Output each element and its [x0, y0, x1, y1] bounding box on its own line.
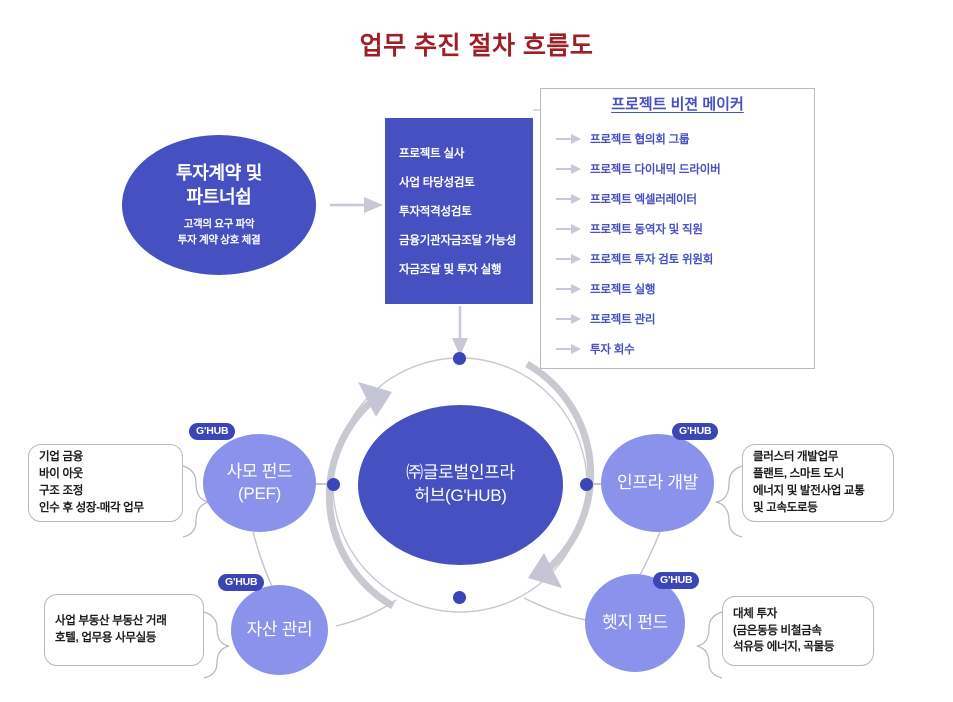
- badge-ghub-infra: G'HUB: [672, 423, 718, 440]
- arrow-contract-to-process-head: [364, 197, 383, 213]
- callout-infra-line-2: 플랜트, 스마트 도시: [753, 466, 883, 483]
- callout-pef-line-2: 바이 아웃: [39, 466, 172, 483]
- ring-dot-bottom: [453, 591, 466, 604]
- vision-item-label: 프로젝트 엑셀러레이터: [590, 191, 697, 207]
- vision-item-label: 프로젝트 관리: [590, 311, 655, 327]
- process-step-4: 금융기관자금조달 가능성: [399, 232, 533, 248]
- process-step-2: 사업 타당성검토: [399, 174, 533, 190]
- hub-label-line1: ㈜글로벌인프라: [406, 462, 515, 485]
- pef-label-line1: 사모 펀드: [227, 461, 293, 483]
- asset-label-line1: 자산 관리: [247, 619, 313, 641]
- process-step-1: 프로젝트 실사: [399, 145, 533, 161]
- vision-item-1[interactable]: 프로젝트 협의회 그룹: [556, 124, 811, 154]
- ring-dot-right: [580, 478, 593, 491]
- badge-ghub-asset: G'HUB: [218, 574, 264, 591]
- vision-item-label: 프로젝트 실행: [590, 281, 655, 297]
- vision-item-5[interactable]: 프로젝트 투자 검토 위원회: [556, 244, 811, 274]
- badge-ghub-pef: G'HUB: [189, 423, 235, 440]
- arrow-right-icon: [556, 284, 582, 294]
- callout-tail-asset: [204, 612, 229, 678]
- ring-dot-top: [453, 352, 466, 365]
- callout-asset-line-2: 호텔, 업무용 사무실등: [55, 630, 193, 647]
- pef-label-line2: (PEF): [238, 483, 281, 505]
- vision-item-6[interactable]: 프로젝트 실행: [556, 274, 811, 304]
- vision-item-label: 프로젝트 투자 검토 위원회: [590, 251, 713, 267]
- vision-item-label: 프로젝트 다이내믹 드라이버: [590, 161, 721, 177]
- hedge-label-line1: 헷지 펀드: [602, 612, 668, 634]
- node-central-hub[interactable]: ㈜글로벌인프라 허브(G'HUB): [358, 405, 563, 565]
- vision-item-label: 프로젝트 동역자 및 직원: [590, 221, 703, 237]
- callout-infra: 클러스터 개발업무 플랜트, 스마트 도시 에너지 및 발전사업 교통 및 고속…: [742, 444, 894, 522]
- vision-item-7[interactable]: 프로젝트 관리: [556, 304, 811, 334]
- vision-item-2[interactable]: 프로젝트 다이내믹 드라이버: [556, 154, 811, 184]
- node-private-equity-fund[interactable]: 사모 펀드 (PEF): [203, 434, 316, 532]
- vision-panel-title: 프로젝트 비젼 메이커: [540, 93, 815, 114]
- vision-item-3[interactable]: 프로젝트 엑셀러레이터: [556, 184, 811, 214]
- callout-pef: 기업 금융 바이 아웃 구조 조정 인수 후 성장-매각 업무: [28, 444, 183, 522]
- link-infra-hedge: [640, 532, 660, 575]
- callout-hedge-line-2: (금은동등 비철금속: [733, 623, 863, 640]
- vision-item-label: 프로젝트 협의회 그룹: [590, 131, 689, 147]
- arrow-right-icon: [556, 224, 582, 234]
- arrow-right-icon: [556, 344, 582, 354]
- link-ring-hedge: [524, 598, 586, 620]
- callout-pef-line-4: 인수 후 성장-매각 업무: [39, 500, 172, 517]
- callout-infra-line-3: 에너지 및 발전사업 교통: [753, 483, 883, 500]
- callout-tail-hedge: [697, 612, 722, 678]
- process-step-3: 투자적격성검토: [399, 203, 533, 219]
- hub-label-line2: 허브(G'HUB): [414, 485, 506, 508]
- arrow-right-icon: [556, 194, 582, 204]
- arrow-right-icon: [556, 164, 582, 174]
- callout-asset-line-1: 사업 부동산 부동산 거래: [55, 613, 193, 630]
- callout-hedge-line-3: 석유등 에너지, 곡물등: [733, 639, 863, 656]
- ring-dot-left: [327, 478, 340, 491]
- contract-heading-line1: 투자계약 및: [176, 162, 262, 186]
- contract-heading-line2: 파트너쉽: [186, 186, 251, 210]
- badge-ghub-hedge: G'HUB: [653, 572, 699, 589]
- callout-hedge: 대체 투자 (금은동등 비철금속 석유등 에너지, 곡물등: [722, 596, 874, 666]
- callout-hedge-line-1: 대체 투자: [733, 606, 863, 623]
- process-step-5: 자금조달 및 투자 실행: [399, 261, 533, 277]
- callout-pef-line-3: 구조 조정: [39, 483, 172, 500]
- flowchart-canvas: 업무 추진 절차 흐름도: [0, 0, 953, 702]
- vision-item-4[interactable]: 프로젝트 동역자 및 직원: [556, 214, 811, 244]
- callout-infra-line-4: 및 고속도로등: [753, 500, 883, 517]
- callout-infra-line-1: 클러스터 개발업무: [753, 449, 883, 466]
- arrow-right-icon: [556, 254, 582, 264]
- callout-pef-line-1: 기업 금융: [39, 449, 172, 466]
- callout-tail-infra: [716, 466, 742, 537]
- vision-item-8[interactable]: 투자 회수: [556, 334, 811, 364]
- vision-item-label: 투자 회수: [590, 341, 635, 357]
- node-investment-contract[interactable]: 투자계약 및 파트너쉽 고객의 요구 파악 투자 계약 상호 체결: [122, 135, 316, 275]
- vision-panel-list: 프로젝트 협의회 그룹 프로젝트 다이내믹 드라이버 프로젝트 엑셀러레이터 프…: [556, 124, 811, 364]
- process-steps-box: 프로젝트 실사 사업 타당성검토 투자적격성검토 금융기관자금조달 가능성 자금…: [385, 118, 533, 304]
- node-infrastructure-development[interactable]: 인프라 개발: [601, 434, 714, 532]
- contract-sub-line1: 고객의 요구 파악: [184, 217, 255, 232]
- node-asset-management[interactable]: 자산 관리: [231, 585, 328, 675]
- arrow-right-icon: [556, 134, 582, 144]
- infra-label-line1: 인프라 개발: [617, 472, 698, 494]
- arrow-right-icon: [556, 314, 582, 324]
- callout-asset: 사업 부동산 부동산 거래 호텔, 업무용 사무실등: [44, 594, 204, 666]
- contract-sub-line2: 투자 계약 상호 체결: [178, 233, 261, 248]
